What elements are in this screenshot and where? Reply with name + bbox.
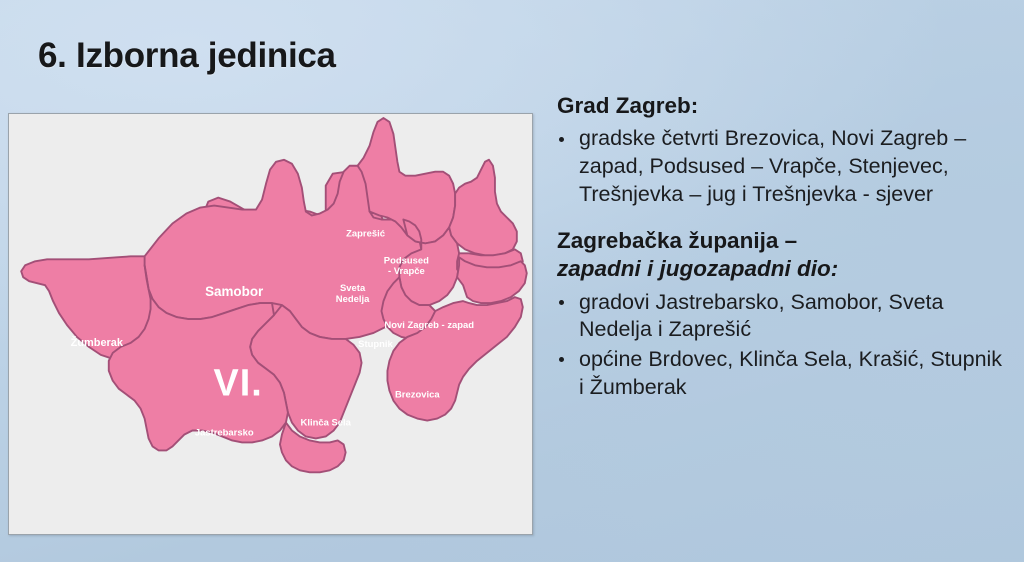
slide-canvas: 6. Izborna jedinica: [0, 0, 1024, 562]
list-item: gradske četvrti Brezovica, Novi Zagreb –…: [557, 125, 1009, 208]
map-label-samobor: Samobor: [205, 284, 264, 299]
map-label-klinca-sela: Klinča Sela: [301, 418, 352, 429]
map-label-sveta-nedelja-line2: Nedelja: [336, 294, 370, 305]
bullet-dot-icon: [559, 300, 564, 305]
map-label-jastrebarsko: Jastrebarsko: [195, 427, 254, 438]
map-label-sveta-nedelja-line1: Sveta: [340, 283, 366, 294]
electoral-unit-map: Zaprešić Podsused - Vrapče Sveta Nedelja…: [9, 114, 532, 534]
bullet-list-zagrebacka-zupanija: gradovi Jastrebarsko, Samobor, Sveta Ned…: [557, 289, 1009, 402]
map-panel: Zaprešić Podsused - Vrapče Sveta Nedelja…: [8, 113, 533, 535]
region-podsused-vrapce[interactable]: [449, 160, 517, 256]
map-label-zumberak: Žumberak: [71, 336, 124, 349]
heading-zagrebacka-zupanija: Zagrebačka županija – zapadni i jugozapa…: [557, 227, 1009, 284]
bullet-dot-icon: [559, 357, 564, 362]
map-label-brezovica: Brezovica: [395, 390, 440, 401]
map-label-podsused-vrapce-line2: - Vrapče: [388, 266, 425, 277]
map-label-podsused-vrapce-line1: Podsused: [384, 255, 429, 266]
list-item: općine Brdovec, Klinča Sela, Krašić, Stu…: [557, 346, 1009, 402]
bullet-list-grad-zagreb: gradske četvrti Brezovica, Novi Zagreb –…: [557, 125, 1009, 208]
page-title: 6. Izborna jedinica: [38, 36, 336, 76]
heading-line-1: Zagrebačka županija –: [557, 228, 797, 253]
list-item-text: općine Brdovec, Klinča Sela, Krašić, Stu…: [579, 346, 1009, 402]
list-item-text: gradske četvrti Brezovica, Novi Zagreb –…: [579, 125, 1009, 208]
map-label-stupnik: Stupnik: [358, 339, 393, 350]
content-column: Grad Zagreb: gradske četvrti Brezovica, …: [557, 92, 1009, 404]
heading-grad-zagreb: Grad Zagreb:: [557, 92, 1009, 120]
heading-line-2: zapadni i jugozapadni dio:: [557, 255, 1009, 283]
map-label-novi-zagreb-zapad: Novi Zagreb - zapad: [384, 320, 474, 331]
list-item-text: gradovi Jastrebarsko, Samobor, Sveta Ned…: [579, 289, 1009, 345]
bullet-dot-icon: [559, 137, 564, 142]
map-label-zapresic: Zaprešić: [346, 228, 385, 239]
list-item: gradovi Jastrebarsko, Samobor, Sveta Ned…: [557, 289, 1009, 345]
map-label-unit-number: VI.: [214, 363, 263, 405]
